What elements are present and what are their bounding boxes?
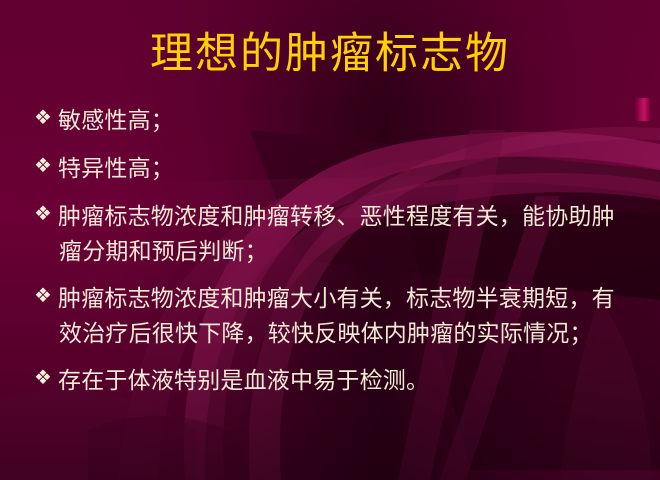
diamond-bullet-icon: ❖ <box>35 201 55 225</box>
list-item: ❖ 肿瘤标志物浓度和肿瘤大小有关，标志物半衰期短，有效治疗后很快下降，较快反映体… <box>33 282 627 352</box>
list-item-text: 敏感性高； <box>59 104 627 139</box>
accent-block-icon <box>633 98 651 121</box>
list-item: ❖ 敏感性高； <box>33 104 627 139</box>
list-item-text: 肿瘤标志物浓度和肿瘤大小有关，标志物半衰期短，有效治疗后很快下降，较快反映体内肿… <box>59 282 627 352</box>
diamond-bullet-icon: ❖ <box>35 365 55 389</box>
diamond-bullet-icon: ❖ <box>35 105 55 129</box>
presentation-slide: 理想的肿瘤标志物 ❖ 敏感性高； ❖ 特异性高； ❖ 肿瘤标志物浓度和肿瘤转移、… <box>0 0 660 480</box>
list-item: ❖ 存在于体液特别是血液中易于检测。 <box>33 364 627 399</box>
list-item-text: 存在于体液特别是血液中易于检测。 <box>59 364 627 399</box>
bullet-list: ❖ 敏感性高； ❖ 特异性高； ❖ 肿瘤标志物浓度和肿瘤转移、恶性程度有关，能协… <box>33 104 627 412</box>
diamond-bullet-icon: ❖ <box>35 283 55 307</box>
list-item: ❖ 肿瘤标志物浓度和肿瘤转移、恶性程度有关，能协助肿瘤分期和预后判断； <box>33 200 627 270</box>
list-item-text: 肿瘤标志物浓度和肿瘤转移、恶性程度有关，能协助肿瘤分期和预后判断； <box>59 200 627 270</box>
list-item-text: 特异性高； <box>59 152 627 187</box>
diamond-bullet-icon: ❖ <box>35 153 55 177</box>
list-item: ❖ 特异性高； <box>33 152 627 187</box>
slide-title: 理想的肿瘤标志物 <box>0 28 660 80</box>
